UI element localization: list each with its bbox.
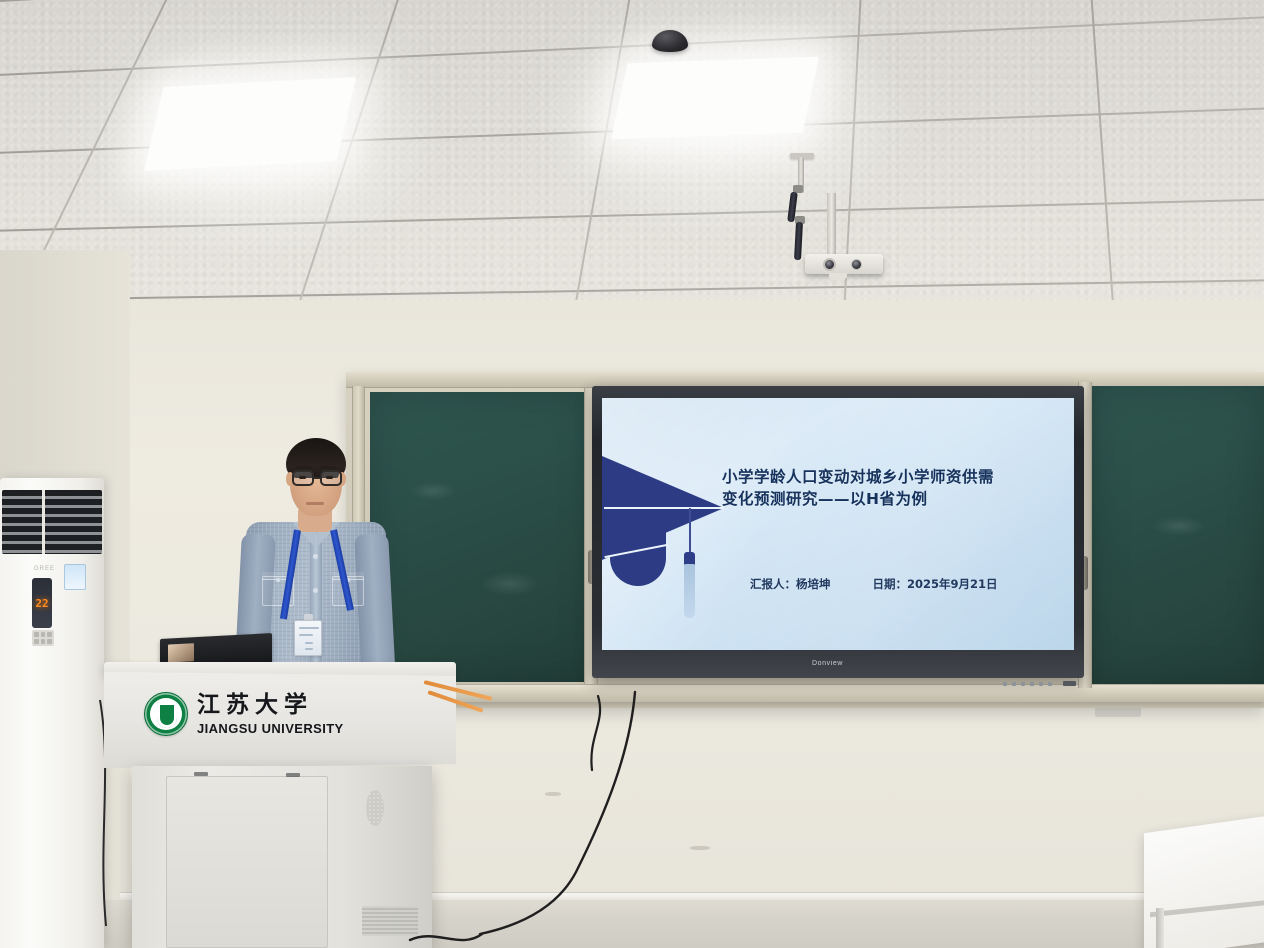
emblem-ring	[145, 693, 187, 735]
podium-vent	[362, 906, 418, 936]
right-blackboard-panel	[1092, 386, 1264, 684]
wall-scuff	[545, 792, 561, 796]
air-conditioner-display: 22	[32, 578, 52, 628]
slide-title-line-2: 变化预测研究——以H省为例	[722, 488, 1052, 510]
air-conditioner-grille	[2, 490, 102, 554]
presenter-brow	[320, 466, 336, 469]
podium-cabinet-door[interactable]	[166, 776, 328, 948]
projector-body	[805, 254, 883, 274]
presentation-slide[interactable]: 小学学龄人口变动对城乡小学师资供需 变化预测研究——以H省为例 汇报人：杨培坤 …	[602, 398, 1074, 650]
presenter-right-arm	[354, 533, 396, 683]
display-usb-port[interactable]	[1063, 681, 1076, 686]
shirt-button	[313, 588, 318, 593]
tassel-body	[684, 564, 695, 618]
laptop-sticker	[168, 643, 194, 662]
shirt-button	[313, 554, 318, 559]
desk-leg	[1156, 908, 1164, 948]
badge-text-line	[299, 627, 319, 629]
ceiling-light-panel-center	[611, 57, 819, 140]
ac-key[interactable]	[41, 639, 46, 644]
display-button[interactable]	[1048, 682, 1052, 686]
id-badge	[294, 620, 322, 656]
badge-text-line	[299, 634, 313, 636]
presenter-brow	[296, 466, 312, 469]
air-conditioner-keypad[interactable]	[32, 630, 54, 646]
projector-arm	[827, 193, 836, 255]
air-conditioner-brand: GREE	[34, 566, 55, 572]
ac-key[interactable]	[34, 639, 39, 644]
ceiling-light-panel-left	[144, 77, 356, 171]
ac-key[interactable]	[47, 632, 52, 637]
podium-lock-slot[interactable]	[286, 773, 300, 777]
wall-scuff	[690, 846, 710, 850]
chalk-smudge	[480, 572, 540, 596]
slide-presenter: 汇报人：杨培坤	[750, 576, 831, 592]
graduation-cap-brim-line	[604, 507, 724, 509]
display-button[interactable]	[1021, 682, 1025, 686]
jiangsu-university-emblem-icon	[144, 692, 188, 736]
slide-date: 日期：2025年9月21日	[873, 576, 998, 592]
ac-key[interactable]	[34, 632, 39, 637]
air-conditioner: GREE 22	[0, 478, 104, 948]
podium-logo-english: JIANGSU UNIVERSITY	[197, 722, 344, 735]
ceiling	[0, 0, 1264, 350]
pocket-button	[276, 578, 280, 582]
projector-foot	[829, 273, 847, 280]
display-control-buttons[interactable]	[1003, 681, 1076, 686]
slide-title-line-1: 小学学龄人口变动对城乡小学师资供需	[722, 466, 1052, 488]
podium-logo-chinese: 江苏大学	[197, 694, 344, 717]
display-button[interactable]	[1039, 682, 1043, 686]
presenter-mouth	[306, 502, 324, 505]
badge-text-line	[305, 642, 313, 644]
display-button[interactable]	[1012, 682, 1016, 686]
presenter-eye	[299, 476, 306, 479]
display-button[interactable]	[1003, 682, 1007, 686]
badge-text-line	[305, 648, 313, 650]
podium-branding: 江苏大学 JIANGSU UNIVERSITY	[144, 692, 344, 736]
podium-speaker-grille-icon	[366, 790, 384, 826]
blackboard-chalk-tray	[346, 684, 1264, 702]
chalk-smudge	[1152, 516, 1206, 536]
presenter-eye	[326, 476, 333, 479]
energy-label-sticker	[64, 564, 86, 590]
air-conditioner-temperature: 22	[35, 597, 48, 610]
ac-key[interactable]	[41, 632, 46, 637]
display-brand-label: Donview	[812, 660, 843, 667]
podium-lock-slot[interactable]	[194, 772, 208, 776]
classroom-photo-scene: 小学学龄人口变动对城乡小学师资供需 变化预测研究——以H省为例 汇报人：杨培坤 …	[0, 0, 1264, 948]
display-button[interactable]	[1030, 682, 1034, 686]
camera-lens-icon	[851, 259, 862, 270]
projector-lens-icon	[823, 258, 836, 271]
chalk-smudge	[410, 482, 456, 500]
slide-title: 小学学龄人口变动对城乡小学师资供需 变化预测研究——以H省为例	[722, 466, 1052, 510]
ac-key[interactable]	[47, 639, 52, 644]
tassel-cord	[689, 508, 691, 554]
slide-meta-row: 汇报人：杨培坤 日期：2025年9月21日	[750, 576, 998, 592]
air-conditioner-grille-divider	[42, 490, 45, 554]
